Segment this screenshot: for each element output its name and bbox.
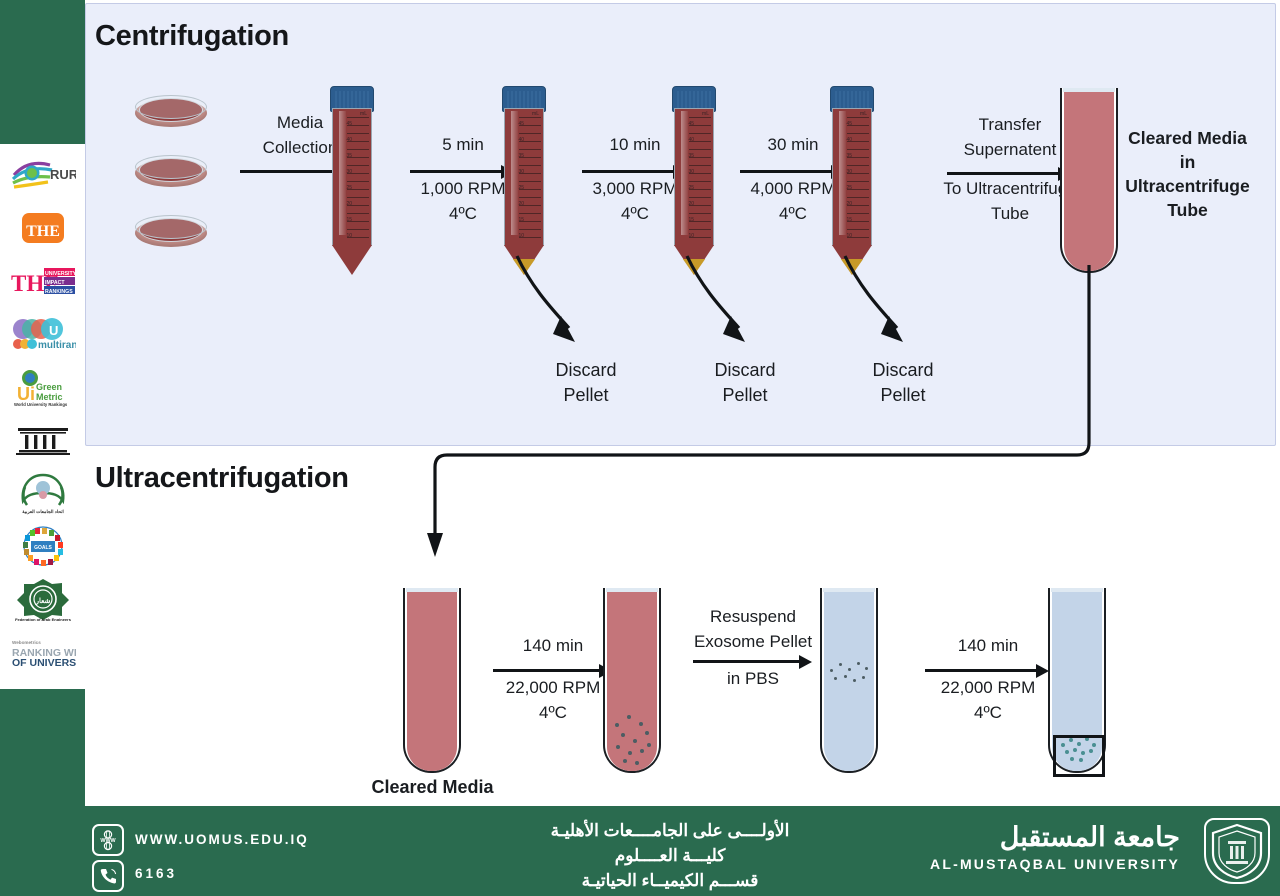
svg-text:اتحاد الجامعات العربية: اتحاد الجامعات العربية [22,509,64,515]
petri-glass [135,155,207,179]
exosome-dot [616,745,620,749]
exosome-dot [857,662,860,665]
footer-phone-number[interactable]: 6163 [135,866,177,881]
svg-text:OF UNIVERSITIES: OF UNIVERSITIES [12,657,76,668]
exosome-dot [844,675,847,678]
sidebar-green-block-top [0,0,85,144]
svg-text:Webometrics: Webometrics [12,640,41,645]
svg-text:WWW: WWW [100,838,116,844]
uct-fill-cleared-media [407,591,457,771]
falcon-tube: 4540353025201510 mL [823,86,881,268]
exosome-dot [645,731,649,735]
brand-english-name: AL-MUSTAQBAL UNIVERSITY [890,856,1180,872]
tube-cone [332,245,372,275]
exosome-dot [647,743,651,747]
exosome-dot [621,733,625,737]
step-140min-detail-2: 22,000 RPM 4ºC [913,675,1063,725]
svg-text:RANKINGS: RANKINGS [45,289,73,295]
svg-text:UNIVERSITY: UNIVERSITY [45,271,76,277]
petri-glass [135,95,207,119]
exosome-dot [633,739,637,743]
tube-unit-label: mL [860,111,867,117]
multirank-logo: U multirank [10,311,76,357]
diagram-canvas: Centrifugation Media Collection 45403530… [85,0,1280,806]
svg-text:شعار: شعار [34,597,50,605]
svg-text:THE: THE [26,223,60,240]
falcon-tube: 4540353025201510 mL [495,86,553,268]
step-resuspend-exosome-pellet: Resuspend Exosome Pellet [663,604,843,654]
section-connector-arrow [425,265,1105,570]
tube-scale-numbers: 4540353025201510 [836,116,852,244]
svg-text:Ui: Ui [17,384,35,404]
svg-text:RUR: RUR [50,167,76,182]
exosome-dot [635,761,639,765]
globe-icon: WWW [92,824,124,856]
cleared-media-in-uct-label: Cleared Media in Ultracentrifuge Tube [1105,126,1270,222]
svg-text:Green: Green [36,382,62,392]
exosome-dot [623,759,627,763]
tube-cone-outline [332,245,372,275]
the-logo: THE [10,205,76,251]
petri-dish [135,95,207,129]
svg-text:World University Rankings: World University Rankings [14,402,68,407]
step-140min-22000rpm-2: 140 min [913,633,1063,658]
columns-logo [10,417,76,463]
exosome-pellet-highlight-box [1053,735,1105,777]
tube-body: 4540353025201510 mL [504,108,544,246]
uct-fill-pbs [824,591,874,771]
rur-logo: RUR [10,152,76,198]
page-footer: WWW WWW.UOMUS.EDU.IQ 6163 الأولــــى على… [85,806,1280,896]
tube-body: 4540353025201510 mL [832,108,872,246]
petri-glass [135,215,207,239]
tube-scale-numbers: 4540353025201510 [336,116,352,244]
ultracentrifuge-tube-exosome-pellet [603,588,661,773]
ui-greenmetric-logo: Ui Green Metric World University Ranking… [10,364,76,410]
petri-dish [135,155,207,189]
tube-unit-label: mL [360,111,367,117]
tube-body: 4540353025201510 mL [674,108,714,246]
exosome-dot [628,751,632,755]
exosome-dot [639,722,643,726]
sdg-goals-logo: GOALS [10,523,76,569]
sidebar-green-block-bottom [0,689,85,896]
petri-dish [135,215,207,249]
svg-text:Metric: Metric [36,392,63,402]
ultracentrifuge-tube-pbs [820,588,878,773]
step-140min-22000rpm-1: 140 min [483,633,623,658]
exosome-dot [834,677,837,680]
falcon-tube: 4540353025201510 mL [323,86,381,268]
centrifugation-title: Centrifugation [95,20,289,53]
the-impact-rankings-logo: THE UNIVERSITY IMPACT RANKINGS [10,258,76,304]
exosome-dot [848,668,851,671]
exosome-dot [830,669,833,672]
phone-icon [92,860,124,892]
svg-text:multirank: multirank [38,340,76,351]
exosome-dot [615,723,619,727]
exosome-dot [640,749,644,753]
arab-universities-union-logo: اتحاد الجامعات العربية [10,470,76,516]
tube-unit-label: mL [532,111,539,117]
federation-arab-engineers-logo: شعار Federation of Arab Engineers [10,576,76,622]
ultracentrifuge-tube-cleared-media [403,588,461,773]
exosome-dot [865,667,868,670]
exosome-dot [839,663,842,666]
uct-rim [406,588,458,592]
exosome-dot [853,679,856,682]
exosome-dot [862,676,865,679]
footer-arabic-text: الأولــــى على الجامــــعات الأهليـة كلي… [415,818,925,893]
uct-rim [823,588,875,592]
falcon-tube: 4540353025201510 mL [665,86,723,268]
university-shield-icon [1204,818,1270,884]
tube-scale-numbers: 4540353025201510 [508,116,524,244]
uct-rim [1063,88,1115,92]
ultracentrifugation-title: Ultracentrifugation [95,462,349,495]
uct-rim [606,588,658,592]
svg-text:Federation of Arab Engineers: Federation of Arab Engineers [15,617,72,621]
step-resuspend-detail: in PBS [663,666,843,691]
university-brand: جامعة المستقبل AL-MUSTAQBAL UNIVERSITY [890,820,1180,872]
svg-text:U: U [49,323,58,338]
uct-fill-cleared-media [607,591,657,771]
brand-arabic-name: جامعة المستقبل [890,820,1180,854]
uct-rim [1051,588,1103,592]
svg-text:GOALS: GOALS [34,545,52,551]
footer-website-url[interactable]: WWW.UOMUS.EDU.IQ [135,832,309,847]
tube-unit-label: mL [702,111,709,117]
svg-text:IMPACT: IMPACT [45,280,65,286]
exosome-dot [627,715,631,719]
university-ranking-logo-rail: RUR THE THE UNIVERSITY IMPACT RANKINGS U [0,144,85,689]
webometrics-logo: Webometrics RANKING WEB OF UNIVERSITIES [10,629,76,675]
tube-scale-numbers: 4540353025201510 [678,116,694,244]
step-140min-detail-1: 22,000 RPM 4ºC [483,675,623,725]
cleared-media-label: Cleared Media [360,775,505,799]
tube-body: 4540353025201510 mL [332,108,372,246]
